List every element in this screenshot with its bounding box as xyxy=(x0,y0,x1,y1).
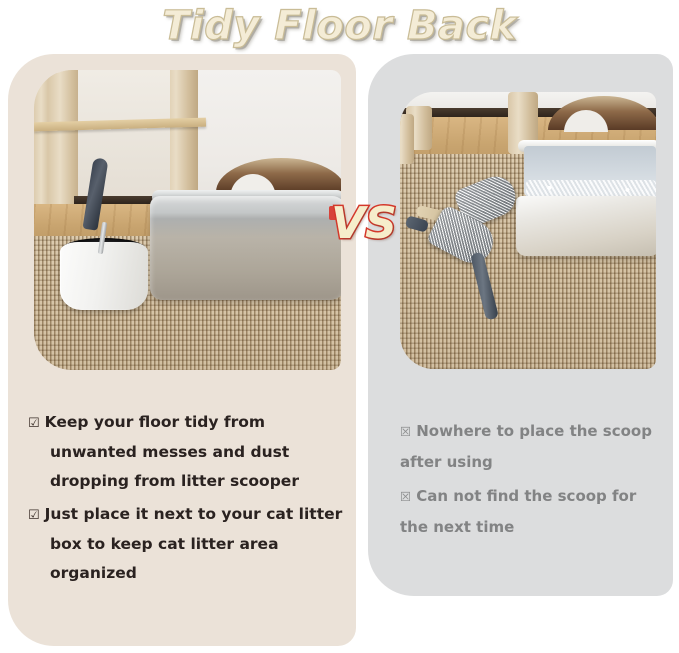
list-item-label: Nowhere to place the scoop after using xyxy=(400,422,652,471)
stainless-steel-litter-box xyxy=(150,196,341,300)
list-item-label: Keep your floor tidy from unwanted messe… xyxy=(45,413,299,490)
white-litter-box xyxy=(516,196,656,256)
checked-box-icon: ☑ xyxy=(28,508,40,523)
checked-box-icon: ☑ xyxy=(28,416,40,431)
page-title: Tidy Floor Back xyxy=(162,3,517,49)
benefits-list: ☑Keep your floor tidy from unwanted mess… xyxy=(28,408,344,592)
crossed-box-icon: ☒ xyxy=(400,489,411,504)
vs-badge: VS xyxy=(330,196,398,252)
photo-bad-setup xyxy=(400,92,656,369)
list-item-label: Can not find the scoop for the next time xyxy=(400,487,636,536)
list-item: ☑Just place it next to your cat litter b… xyxy=(28,500,344,588)
cat-tree-post-left-2 xyxy=(400,114,414,164)
vs-label: VS xyxy=(331,202,397,246)
list-item: ☒Can not find the scoop for the next tim… xyxy=(400,481,656,542)
crossed-box-icon: ☒ xyxy=(400,424,411,439)
list-item: ☑Keep your floor tidy from unwanted mess… xyxy=(28,408,344,496)
drawbacks-list: ☒Nowhere to place the scoop after using … xyxy=(400,416,656,546)
white-scoop-holder xyxy=(60,242,148,310)
list-item-label: Just place it next to your cat litter bo… xyxy=(45,505,343,582)
list-item: ☒Nowhere to place the scoop after using xyxy=(400,416,656,477)
photo-good-setup xyxy=(34,70,341,370)
title-bar: Tidy Floor Back xyxy=(0,0,679,52)
